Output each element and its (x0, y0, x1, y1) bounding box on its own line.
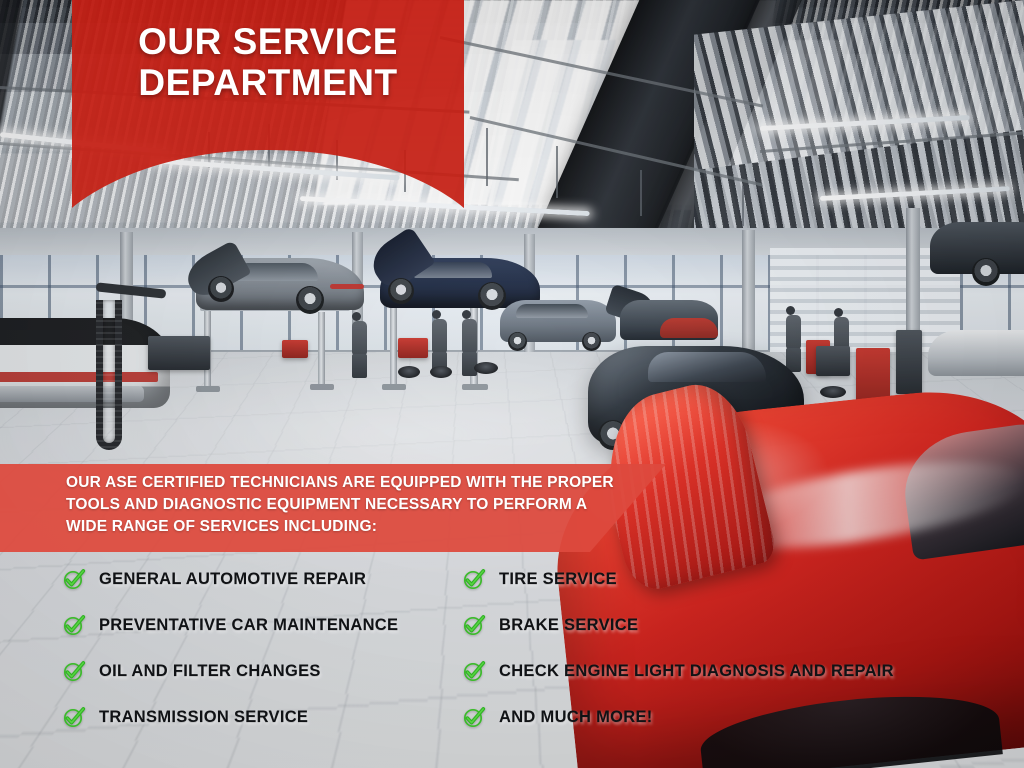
tail-light-strip (330, 284, 364, 289)
intro-paragraph: OUR ASE CERTIFIED TECHNICIANS ARE EQUIPP… (66, 472, 626, 538)
list-item: CHECK ENGINE LIGHT DIAGNOSIS AND REPAIR (455, 659, 1024, 683)
check-circle-icon (62, 705, 86, 729)
hanging-rod (640, 170, 642, 216)
car-windshield (648, 352, 766, 382)
car-wheel (972, 258, 1000, 286)
service-department-poster: EB 2B UA OUR SERVICE DEPARTMENT OUR ASE … (0, 0, 1024, 768)
car-wheel (478, 282, 506, 310)
lift-post-base (462, 384, 488, 390)
list-item: TIRE SERVICE (455, 567, 1024, 591)
car-wheel (208, 276, 234, 302)
services-checklist: GENERAL AUTOMOTIVE REPAIR TIRE SERVICE (0, 556, 1024, 756)
service-label: CHECK ENGINE LIGHT DIAGNOSIS AND REPAIR (499, 662, 894, 681)
list-item: TRANSMISSION SERVICE (0, 705, 455, 729)
service-label: TIRE SERVICE (499, 570, 617, 589)
service-label: OIL AND FILTER CHANGES (99, 662, 321, 681)
list-item: PREVENTATIVE CAR MAINTENANCE (0, 613, 455, 637)
equipment-rack (896, 330, 922, 394)
check-circle-icon (462, 613, 486, 637)
check-circle-icon (62, 567, 86, 591)
tire-stack (398, 366, 420, 378)
lift-post (390, 306, 397, 384)
service-label: TRANSMISSION SERVICE (99, 708, 308, 727)
tool-cabinet (148, 336, 210, 370)
car-red-background (660, 318, 718, 338)
page-title-line-2: DEPARTMENT (98, 63, 438, 104)
car-wheel (508, 332, 527, 351)
list-item: BRAKE SERVICE (455, 613, 1024, 637)
car-wheel (582, 332, 601, 351)
check-circle-icon (462, 705, 486, 729)
list-item: AND MUCH MORE! (455, 705, 1024, 729)
lift-post (318, 312, 325, 386)
service-label: GENERAL AUTOMOTIVE REPAIR (99, 570, 366, 589)
lift-post-base (310, 384, 334, 390)
check-circle-icon (462, 567, 486, 591)
car-bumper (0, 386, 144, 402)
service-label: BRAKE SERVICE (499, 616, 638, 635)
hanging-rod (742, 186, 744, 226)
list-item: OIL AND FILTER CHANGES (0, 659, 455, 683)
service-label: PREVENTATIVE CAR MAINTENANCE (99, 616, 398, 635)
car-wheel (388, 278, 414, 304)
service-label: AND MUCH MORE! (499, 708, 653, 727)
tool-cart-red (398, 338, 428, 358)
tool-cart-red (282, 340, 308, 358)
tire-stack (474, 362, 498, 374)
equipment-case (816, 346, 850, 376)
car-windshield (516, 304, 588, 318)
check-circle-icon (62, 659, 86, 683)
check-circle-icon (462, 659, 486, 683)
page-title-line-1: OUR SERVICE (138, 21, 398, 62)
car-silver-foreground (928, 330, 1024, 376)
tail-light-strip (0, 372, 158, 382)
tire-stack (820, 386, 846, 398)
hanging-rod (556, 146, 558, 198)
hanging-rod (486, 128, 488, 186)
car-wheel (296, 286, 324, 314)
page-title: OUR SERVICE DEPARTMENT (72, 22, 464, 103)
lift-post-base (196, 386, 220, 392)
lift-post-base (382, 384, 406, 390)
check-circle-icon (62, 613, 86, 637)
list-item: GENERAL AUTOMOTIVE REPAIR (0, 567, 455, 591)
tire-stack (430, 366, 452, 378)
support-column (742, 230, 755, 362)
exhaust-extraction-hose (96, 300, 122, 450)
